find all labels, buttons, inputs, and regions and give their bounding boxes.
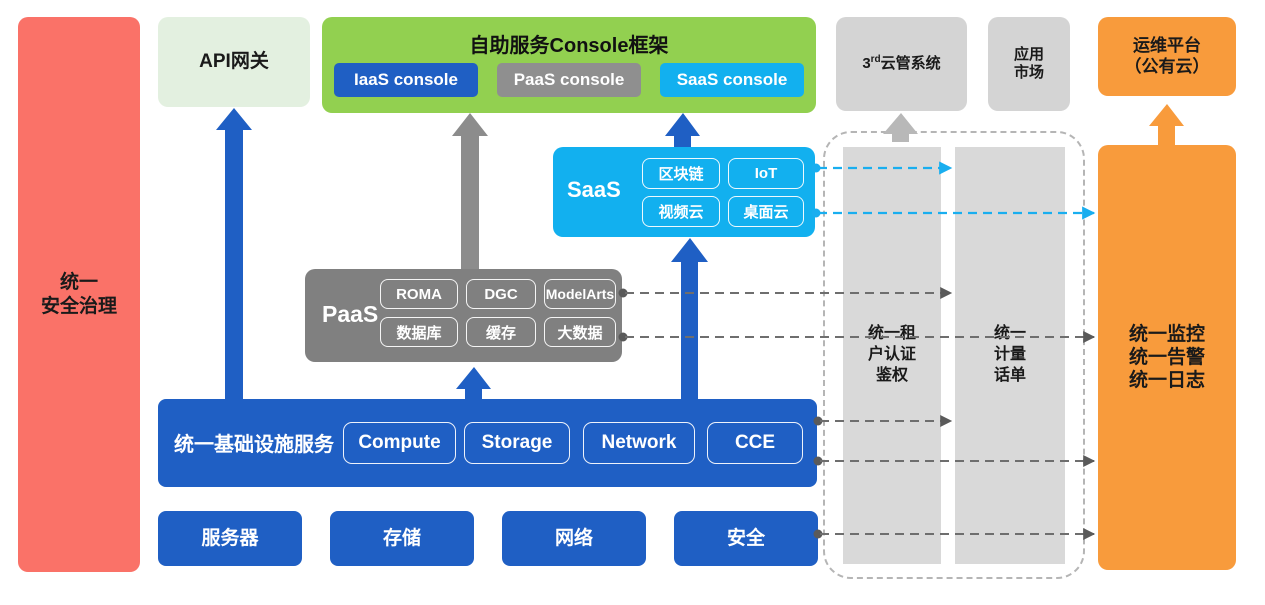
third-party-sup: rd — [871, 54, 881, 65]
metering-line1: 统一 — [994, 324, 1026, 345]
hardware-security-box[interactable]: 安全 — [674, 511, 818, 566]
paas-tag-modelarts-label: ModelArts — [546, 286, 614, 302]
iaas-console-label: IaaS console — [354, 70, 458, 90]
infra-tag-cce[interactable]: CCE — [707, 422, 803, 464]
infra-tag-cce-label: CCE — [735, 432, 775, 454]
saas-tag-desktop-cloud[interactable]: 桌面云 — [728, 196, 804, 227]
third-party-cloud-mgmt-box: 3rd云管系统 — [836, 17, 967, 111]
saas-tag-iot[interactable]: IoT — [728, 158, 804, 189]
paas-tag-roma-label: ROMA — [396, 286, 442, 303]
iaas-console-chip[interactable]: IaaS console — [334, 63, 478, 97]
api-gateway-label: API网关 — [199, 50, 269, 73]
paas-console-label: PaaS console — [514, 70, 625, 90]
hardware-network-label: 网络 — [555, 527, 593, 550]
arrow-saas-to-console — [665, 113, 700, 147]
paas-console-chip[interactable]: PaaS console — [497, 63, 641, 97]
arrow-paas-to-console — [452, 113, 488, 269]
tenant-auth-line2: 户认证 — [868, 345, 916, 366]
paas-tag-roma[interactable]: ROMA — [380, 279, 458, 309]
third-party-label: 3rd云管系统 — [862, 54, 940, 73]
saas-layer: SaaS 区块链 IoT 视频云 桌面云 — [553, 147, 815, 237]
console-frame-title: 自助服务Console框架 — [322, 29, 816, 58]
ops-platform-line1: 运维平台 — [1133, 36, 1201, 57]
paas-tag-database[interactable]: 数据库 — [380, 317, 458, 347]
unified-alarm-line2: 统一告警 — [1129, 346, 1205, 369]
paas-tag-database-label: 数据库 — [396, 322, 441, 343]
third-party-rest: 云管系统 — [881, 55, 941, 72]
arrow-ops-body-to-ops-top — [1149, 104, 1184, 145]
hardware-storage-box[interactable]: 存储 — [330, 511, 474, 566]
infra-tag-network-label: Network — [602, 432, 677, 454]
paas-layer-label: PaaS — [322, 301, 378, 328]
arrow-infra-to-paas — [456, 367, 491, 399]
saas-console-chip[interactable]: SaaS console — [660, 63, 804, 97]
infra-tag-compute[interactable]: Compute — [343, 422, 456, 464]
metering-line2: 计量 — [994, 345, 1026, 366]
paas-tag-cache-label: 缓存 — [486, 322, 516, 343]
unified-security-line2: 安全治理 — [41, 295, 117, 318]
unified-security-governance-panel: 统一 安全治理 — [18, 17, 140, 572]
infra-tag-network[interactable]: Network — [583, 422, 695, 464]
arrow-infra-to-saas — [671, 238, 708, 399]
app-market-line2: 市场 — [1014, 64, 1044, 82]
ops-platform-line2: （公有云） — [1125, 57, 1210, 78]
saas-tag-blockchain-label: 区块链 — [658, 163, 703, 184]
paas-tag-cache[interactable]: 缓存 — [466, 317, 536, 347]
hardware-security-label: 安全 — [727, 527, 765, 550]
unified-monitoring-line1: 统一监控 — [1129, 323, 1205, 346]
app-market-line1: 应用 — [1014, 46, 1044, 64]
paas-tag-modelarts[interactable]: ModelArts — [544, 279, 616, 309]
app-market-box: 应用 市场 — [988, 17, 1070, 111]
unified-monitoring-panel: 统一监控 统一告警 统一日志 — [1098, 145, 1236, 570]
saas-tag-iot-label: IoT — [755, 165, 778, 182]
paas-tag-dgc-label: DGC — [484, 286, 517, 303]
tenant-auth-line3: 鉴权 — [876, 366, 908, 387]
self-service-console-frame: 自助服务Console框架 IaaS console PaaS console … — [322, 17, 816, 113]
hardware-storage-label: 存储 — [383, 527, 421, 550]
unified-infrastructure-layer: 统一基础设施服务 Compute Storage Network CCE — [158, 399, 817, 487]
paas-tag-dgc[interactable]: DGC — [466, 279, 536, 309]
saas-tag-video-cloud[interactable]: 视频云 — [642, 196, 720, 227]
saas-console-label: SaaS console — [677, 70, 788, 90]
unified-log-line3: 统一日志 — [1129, 369, 1205, 392]
metering-line3: 话单 — [994, 366, 1026, 387]
infra-tag-compute-label: Compute — [358, 432, 440, 454]
saas-tag-desktop-cloud-label: 桌面云 — [743, 201, 788, 222]
third-party-prefix: 3 — [862, 55, 870, 72]
hardware-network-box[interactable]: 网络 — [502, 511, 646, 566]
saas-layer-label: SaaS — [567, 177, 621, 203]
diagram-canvas: 统一 安全治理 API网关 自助服务Console框架 IaaS console… — [0, 0, 1265, 605]
unified-security-line1: 统一 — [60, 271, 98, 294]
infra-tag-storage-label: Storage — [482, 432, 553, 454]
saas-tag-blockchain[interactable]: 区块链 — [642, 158, 720, 189]
unified-infrastructure-label: 统一基础设施服务 — [174, 428, 334, 457]
infra-tag-storage[interactable]: Storage — [464, 422, 570, 464]
paas-tag-bigdata-label: 大数据 — [557, 322, 602, 343]
hardware-server-box[interactable]: 服务器 — [158, 511, 302, 566]
tenant-auth-line1: 统一租 — [868, 324, 916, 345]
saas-tag-video-cloud-label: 视频云 — [658, 201, 703, 222]
api-gateway-box[interactable]: API网关 — [158, 17, 310, 107]
unified-metering-column: 统一 计量 话单 — [955, 147, 1065, 564]
ops-platform-public-cloud-box: 运维平台 （公有云） — [1098, 17, 1236, 96]
paas-layer: PaaS ROMA DGC ModelArts 数据库 缓存 大数据 — [305, 269, 622, 362]
unified-tenant-auth-column: 统一租 户认证 鉴权 — [843, 147, 941, 564]
paas-tag-bigdata[interactable]: 大数据 — [544, 317, 616, 347]
arrow-infra-to-api-gateway — [216, 108, 252, 399]
hardware-server-label: 服务器 — [201, 527, 258, 550]
